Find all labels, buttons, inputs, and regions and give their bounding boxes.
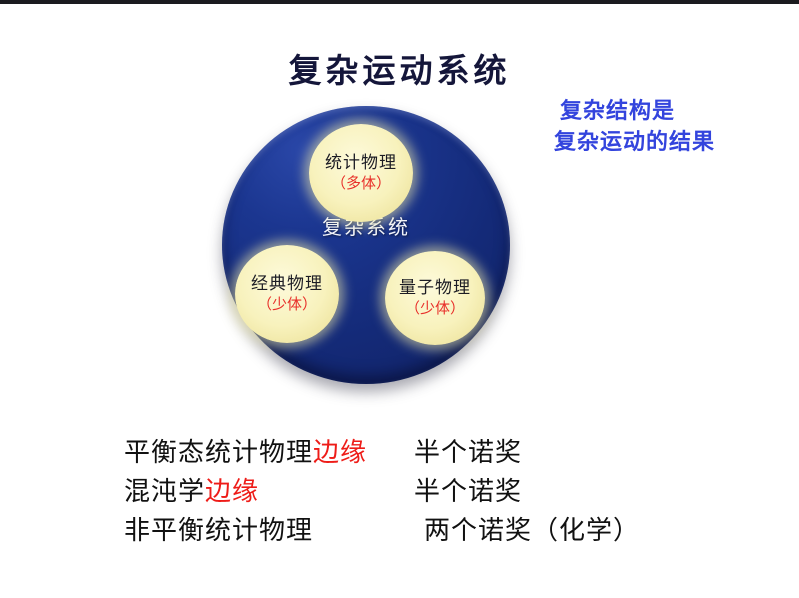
node-classical-physics-subtitle: （少体）	[257, 295, 317, 314]
side-caption: 复杂结构是 复杂运动的结果	[560, 96, 799, 158]
list-item: 平衡态统计物理边缘 半个诺奖	[124, 432, 724, 471]
node-statistical-physics: 统计物理 （多体）	[309, 124, 413, 222]
node-classical-physics-title: 经典物理	[251, 274, 323, 294]
row2-topic-black: 混沌学	[124, 477, 205, 507]
row3-left-group: 非平衡统计物理	[124, 510, 313, 547]
page-title: 复杂运动系统	[0, 44, 799, 92]
row1-left-group: 平衡态统计物理边缘	[124, 432, 367, 469]
top-edge-bar	[0, 0, 799, 4]
side-caption-line-1: 复杂结构是	[560, 96, 799, 127]
row3-topic-black: 非平衡统计物理	[124, 516, 313, 546]
side-caption-line-2: 复杂运动的结果	[554, 127, 799, 158]
row1-topic-black: 平衡态统计物理	[124, 438, 313, 468]
list-item: 非平衡统计物理 两个诺奖（化学）	[124, 510, 724, 549]
node-quantum-physics-title: 量子物理	[399, 278, 471, 298]
row1-award: 半个诺奖	[414, 432, 522, 469]
list-item: 混沌学边缘 半个诺奖	[124, 471, 724, 510]
node-classical-physics: 经典物理 （少体）	[235, 245, 339, 343]
row2-left-group: 混沌学边缘	[124, 471, 259, 508]
nobel-prize-list: 平衡态统计物理边缘 半个诺奖 混沌学边缘 半个诺奖 非平衡统计物理 两个诺奖（化…	[124, 432, 724, 549]
slide-canvas: 复杂运动系统 复杂结构是 复杂运动的结果 复杂系统 统计物理 （多体） 经典物理…	[0, 0, 799, 598]
row2-award: 半个诺奖	[414, 471, 522, 508]
row3-award: 两个诺奖（化学）	[424, 510, 640, 547]
node-quantum-physics: 量子物理 （少体）	[385, 251, 485, 345]
node-statistical-physics-title: 统计物理	[325, 153, 397, 173]
venn-diagram: 复杂系统 统计物理 （多体） 经典物理 （少体） 量子物理 （少体）	[222, 106, 510, 384]
node-quantum-physics-subtitle: （少体）	[405, 299, 465, 318]
row2-topic-red: 边缘	[205, 477, 259, 507]
node-statistical-physics-subtitle: （多体）	[331, 174, 391, 193]
row1-topic-red: 边缘	[313, 438, 367, 468]
